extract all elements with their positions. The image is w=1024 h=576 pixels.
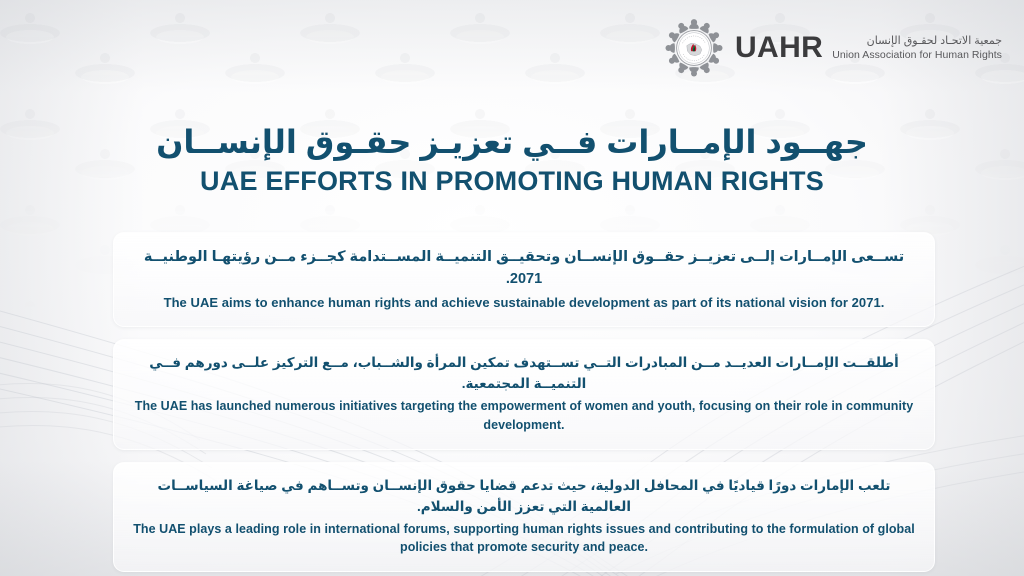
content-card-2: أطلقــت الإمــارات العديــد مــن المبادر… (113, 339, 935, 449)
content-card-3: تلعب الإمارات دورًا قياديًا في المحافل ا… (113, 462, 935, 572)
uahr-circular-people-emblem-icon (664, 18, 724, 78)
brand-full-names: جمعية الاتحـاد لحقـوق الإنسان Union Asso… (832, 35, 1002, 61)
card-2-english-text: The UAE has launched numerous initiative… (132, 397, 916, 435)
brand-name-english: Union Association for Human Rights (832, 49, 1002, 61)
brand-name-arabic: جمعية الاتحـاد لحقـوق الإنسان (832, 35, 1002, 48)
card-1-english-text: The UAE aims to enhance human rights and… (132, 293, 916, 313)
page-title: جهــود الإمــارات فــي تعزيـز حقـوق الإن… (0, 122, 1024, 197)
content-card-list: تســعى الإمــارات إلــى تعزيــز حقــوق ا… (113, 232, 935, 572)
content-card-1: تســعى الإمــارات إلــى تعزيــز حقــوق ا… (113, 232, 935, 327)
title-english: UAE EFFORTS IN PROMOTING HUMAN RIGHTS (0, 165, 1024, 197)
card-3-arabic-text: تلعب الإمارات دورًا قياديًا في المحافل ا… (132, 476, 916, 518)
brand-acronym: UAHR (735, 33, 823, 63)
card-1-arabic-text: تســعى الإمــارات إلــى تعزيــز حقــوق ا… (132, 246, 916, 291)
brand-text-block: UAHR جمعية الاتحـاد لحقـوق الإنسان Union… (735, 33, 1002, 63)
card-2-arabic-text: أطلقــت الإمــارات العديــد مــن المبادر… (132, 353, 916, 395)
slide-canvas: UAHR جمعية الاتحـاد لحقـوق الإنسان Union… (0, 0, 1024, 576)
title-arabic: جهــود الإمــارات فــي تعزيـز حقـوق الإن… (0, 122, 1024, 162)
brand-logo-lockup: UAHR جمعية الاتحـاد لحقـوق الإنسان Union… (664, 18, 1002, 78)
card-3-english-text: The UAE plays a leading role in internat… (132, 520, 916, 558)
